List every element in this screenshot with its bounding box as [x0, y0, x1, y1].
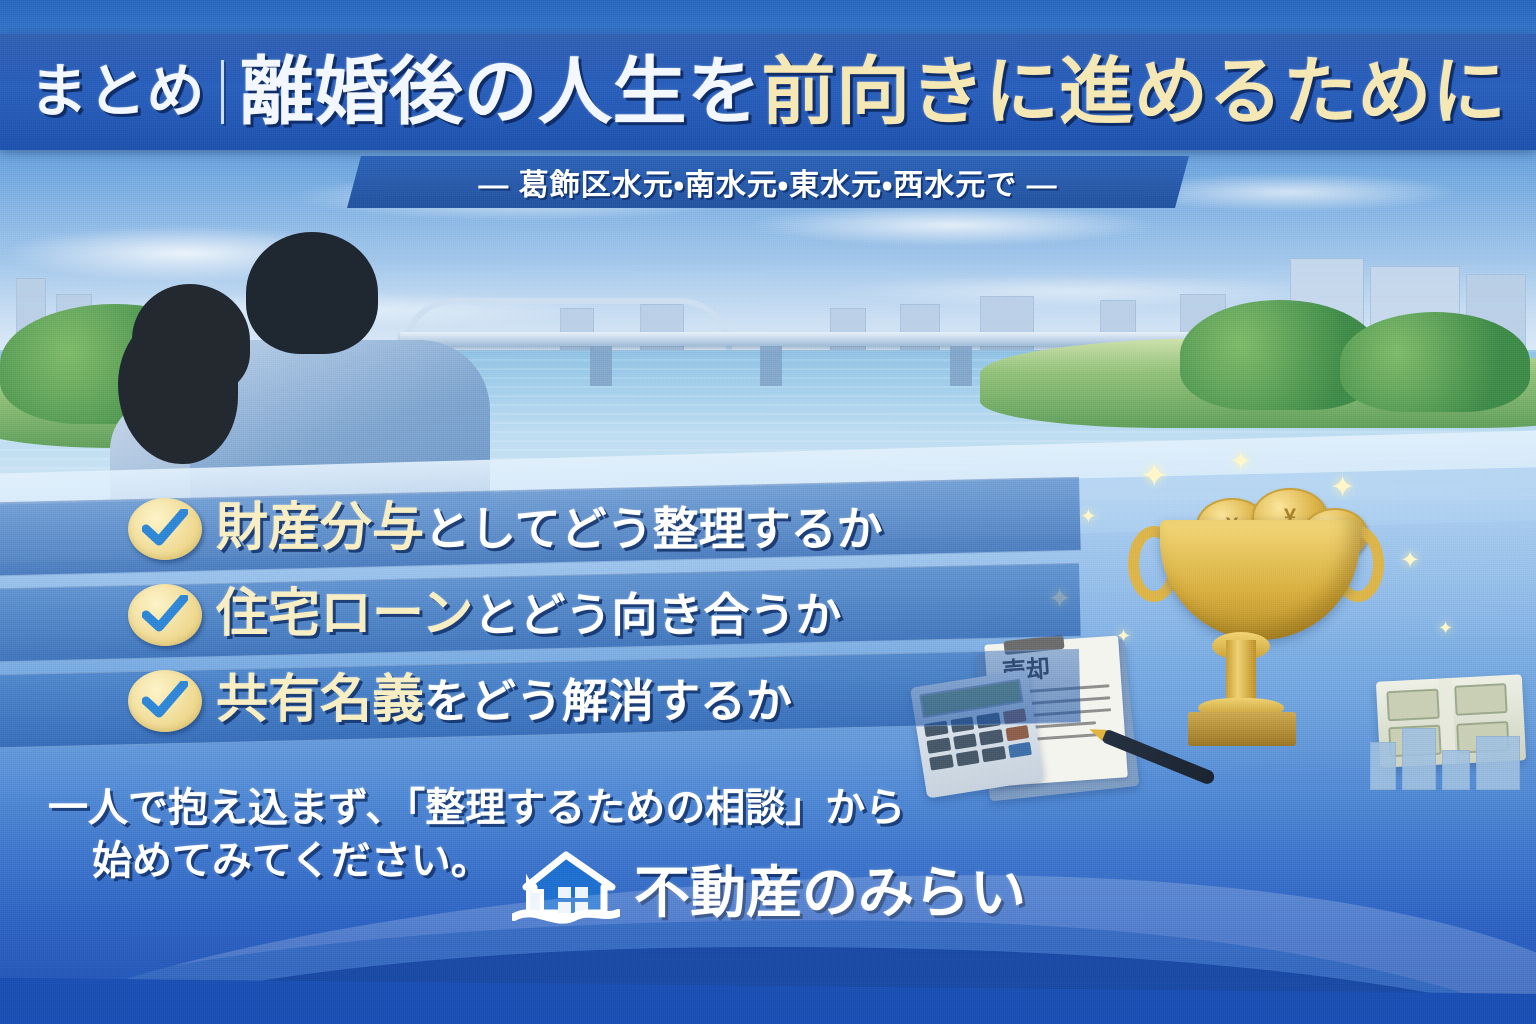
footer-line-1: 一人で抱え込まず、「整理するための相談」から — [48, 786, 905, 830]
subtitle-banner: — 葛飾区水元・南水元・東水元・西水元で — — [347, 156, 1189, 208]
checklist-text: 財産分与としてどう整理するか — [216, 502, 883, 554]
sparkle-icon: ✦ — [1330, 470, 1355, 505]
title-main: 離婚後の人生を — [240, 55, 762, 129]
building — [1402, 728, 1436, 790]
sparkle-icon: ✦ — [1400, 546, 1420, 575]
trophy-cup — [1160, 520, 1360, 640]
poster-canvas: ✦ ✦ ✦ ✦ ✦ ✦ ✦ ✦ ¥ ¥ ¥ ¥ ¥ 売却 — [0, 0, 1536, 1024]
calc-key — [955, 750, 979, 766]
couple-illustration — [70, 222, 510, 500]
sparkle-icon: ✦ — [1230, 446, 1252, 477]
tree-cluster — [1340, 312, 1530, 412]
title-highlight: 前向きに進めるために — [762, 55, 1507, 129]
check-circle-icon — [128, 498, 202, 560]
building — [1476, 736, 1520, 790]
checklist-keyword: 住宅ローン — [216, 585, 473, 643]
sparkle-icon: ✦ — [1080, 504, 1097, 529]
page-title: まとめ 離婚後の人生を 前向きに進めるために — [0, 34, 1536, 150]
building — [1442, 750, 1470, 790]
checklist-rest: としてどう整理するか — [424, 503, 883, 555]
sparkle-icon: ✦ — [1438, 618, 1453, 639]
woman-head — [132, 284, 250, 396]
man-head — [246, 232, 378, 354]
bridge-pier — [760, 346, 782, 386]
building — [1370, 742, 1396, 790]
distant-city — [1110, 690, 1530, 810]
checklist-rest: とどう向き合うか — [473, 589, 841, 641]
bridge-pier — [950, 346, 972, 386]
sparkle-icon: ✦ — [1140, 456, 1169, 496]
calc-key — [929, 754, 953, 770]
subtitle-text: — 葛飾区水元・南水元・東水元・西水元で — — [478, 160, 1057, 204]
checklist: 財産分与としてどう整理するか 住宅ローンとどう向き合うか 共有名義を — [0, 486, 1050, 744]
checklist-item: 住宅ローンとどう向き合うか — [0, 572, 1050, 656]
calc-key — [981, 746, 1005, 762]
title-lead: まとめ — [29, 63, 205, 121]
checklist-item: 財産分与としてどう整理するか — [0, 486, 1050, 570]
check-circle-icon — [128, 670, 202, 732]
checklist-rest: をどう解消するか — [424, 675, 792, 727]
checklist-text: 住宅ローンとどう向き合うか — [216, 588, 841, 640]
checklist-keyword: 財産分与 — [216, 499, 424, 557]
check-circle-icon — [128, 584, 202, 646]
checklist-text: 共有名義をどう解消するか — [216, 674, 792, 726]
calc-key — [1008, 742, 1032, 758]
checklist-keyword: 共有名義 — [216, 671, 424, 729]
checklist-item: 共有名義をどう解消するか — [0, 658, 1050, 742]
bridge-pier — [590, 346, 612, 386]
title-divider-icon — [221, 60, 224, 124]
